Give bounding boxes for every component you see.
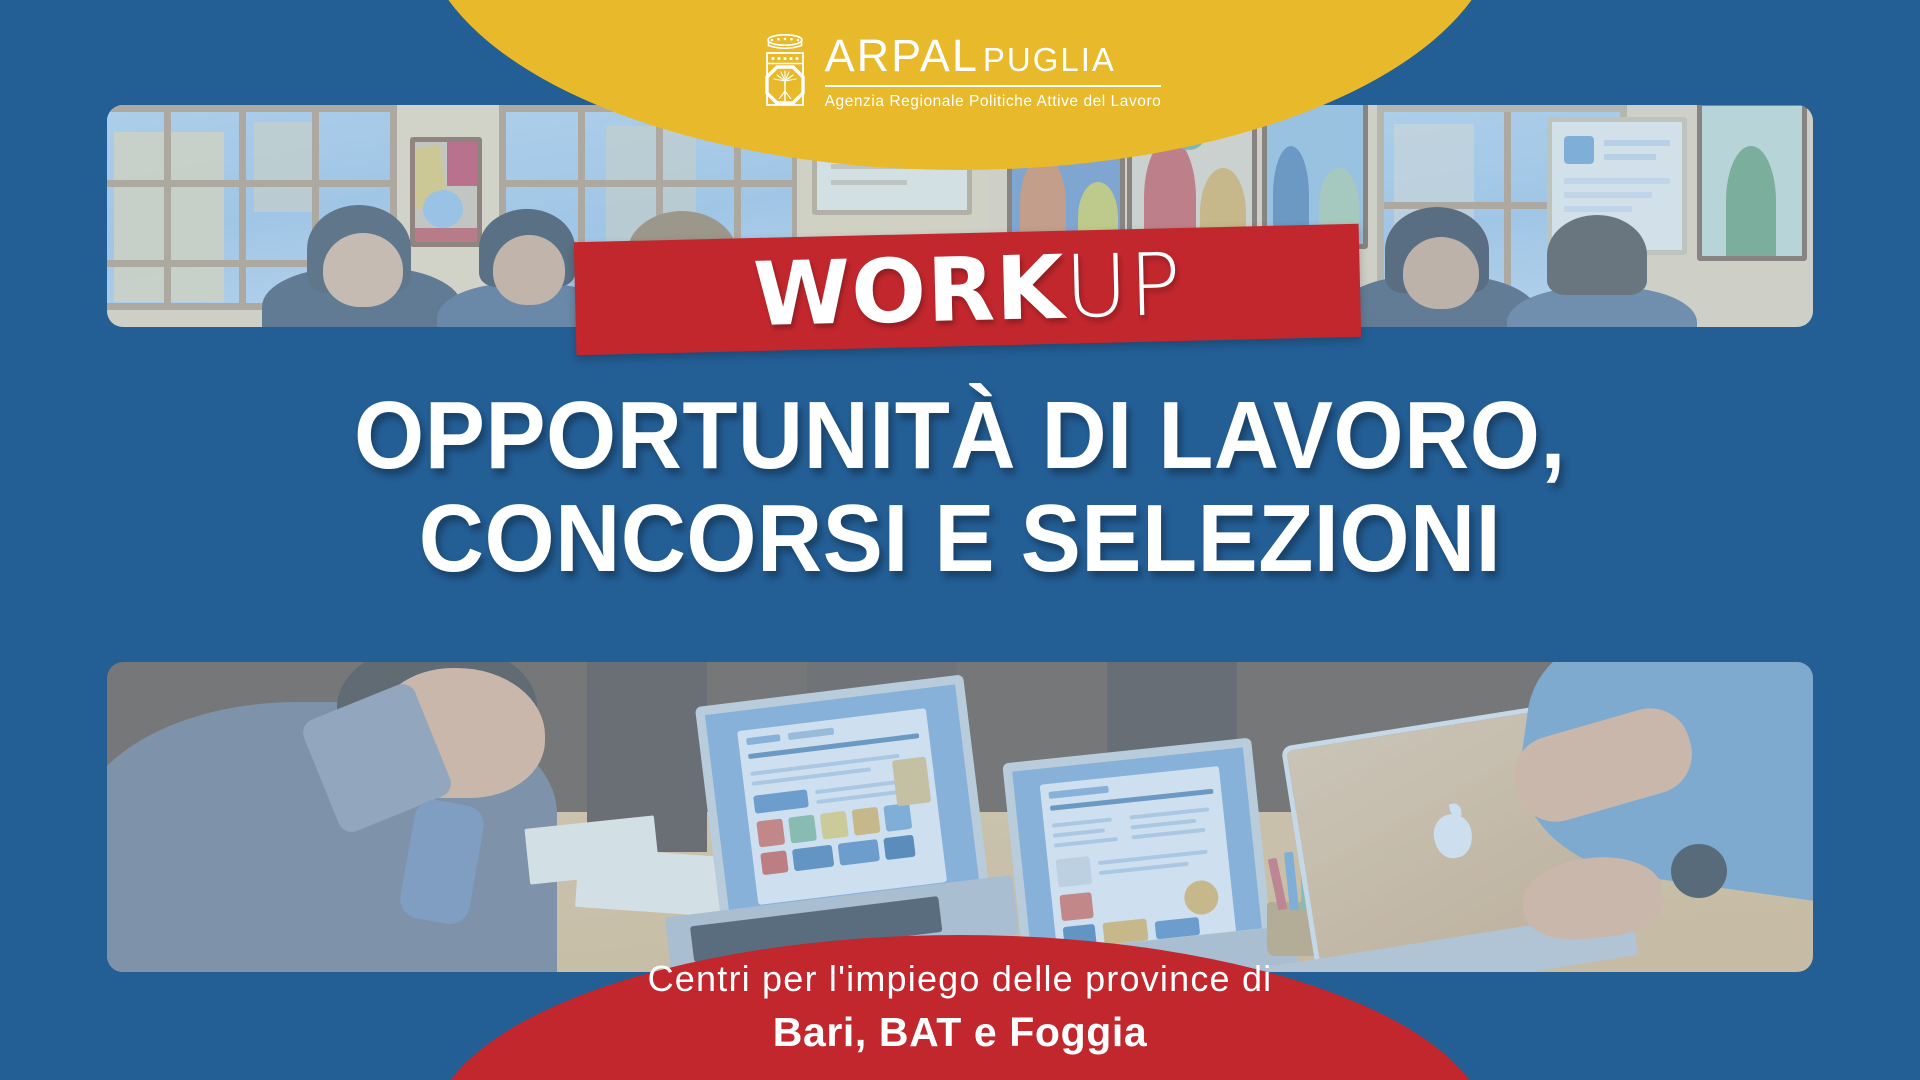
logo-divider-rule <box>825 85 1162 87</box>
puglia-crest-icon <box>759 33 811 111</box>
footer-caption: Centri per l'impiego delle province di B… <box>0 955 1920 1059</box>
arpal-logo-lockup[interactable]: ARPAL PUGLIA Agenzia Regionale Politiche… <box>0 33 1920 111</box>
headline: OPPORTUNITÀ DI LAVORO, CONCORSI E SELEZI… <box>58 385 1863 590</box>
caption-line-1: Centri per l'impiego delle province di <box>0 955 1920 1004</box>
logo-arpal-text: ARPAL <box>825 33 979 78</box>
poster-canvas: ARPAL PUGLIA Agenzia Regionale Politiche… <box>0 0 1920 1080</box>
logo-puglia-text: PUGLIA <box>983 43 1116 76</box>
workup-wordmark: WORKUP <box>574 224 1361 355</box>
workup-banner: WORKUP <box>574 224 1361 355</box>
workup-work-text: WORK <box>752 243 1066 338</box>
caption-line-2: Bari, BAT e Foggia <box>0 1006 1920 1059</box>
headline-line-1: OPPORTUNITÀ DI LAVORO, <box>58 385 1863 488</box>
people-using-laptops-illustration <box>107 662 1813 972</box>
logo-text-block: ARPAL PUGLIA Agenzia Regionale Politiche… <box>825 33 1162 111</box>
workup-up-text: UP <box>1064 241 1183 330</box>
headline-line-2: CONCORSI E SELEZIONI <box>58 488 1863 591</box>
bottom-image-band <box>107 662 1813 972</box>
logo-wordmark: ARPAL PUGLIA <box>825 33 1162 78</box>
bottom-band-color-wash <box>107 662 1813 972</box>
logo-tagline: Agenzia Regionale Politiche Attive del L… <box>825 93 1162 111</box>
